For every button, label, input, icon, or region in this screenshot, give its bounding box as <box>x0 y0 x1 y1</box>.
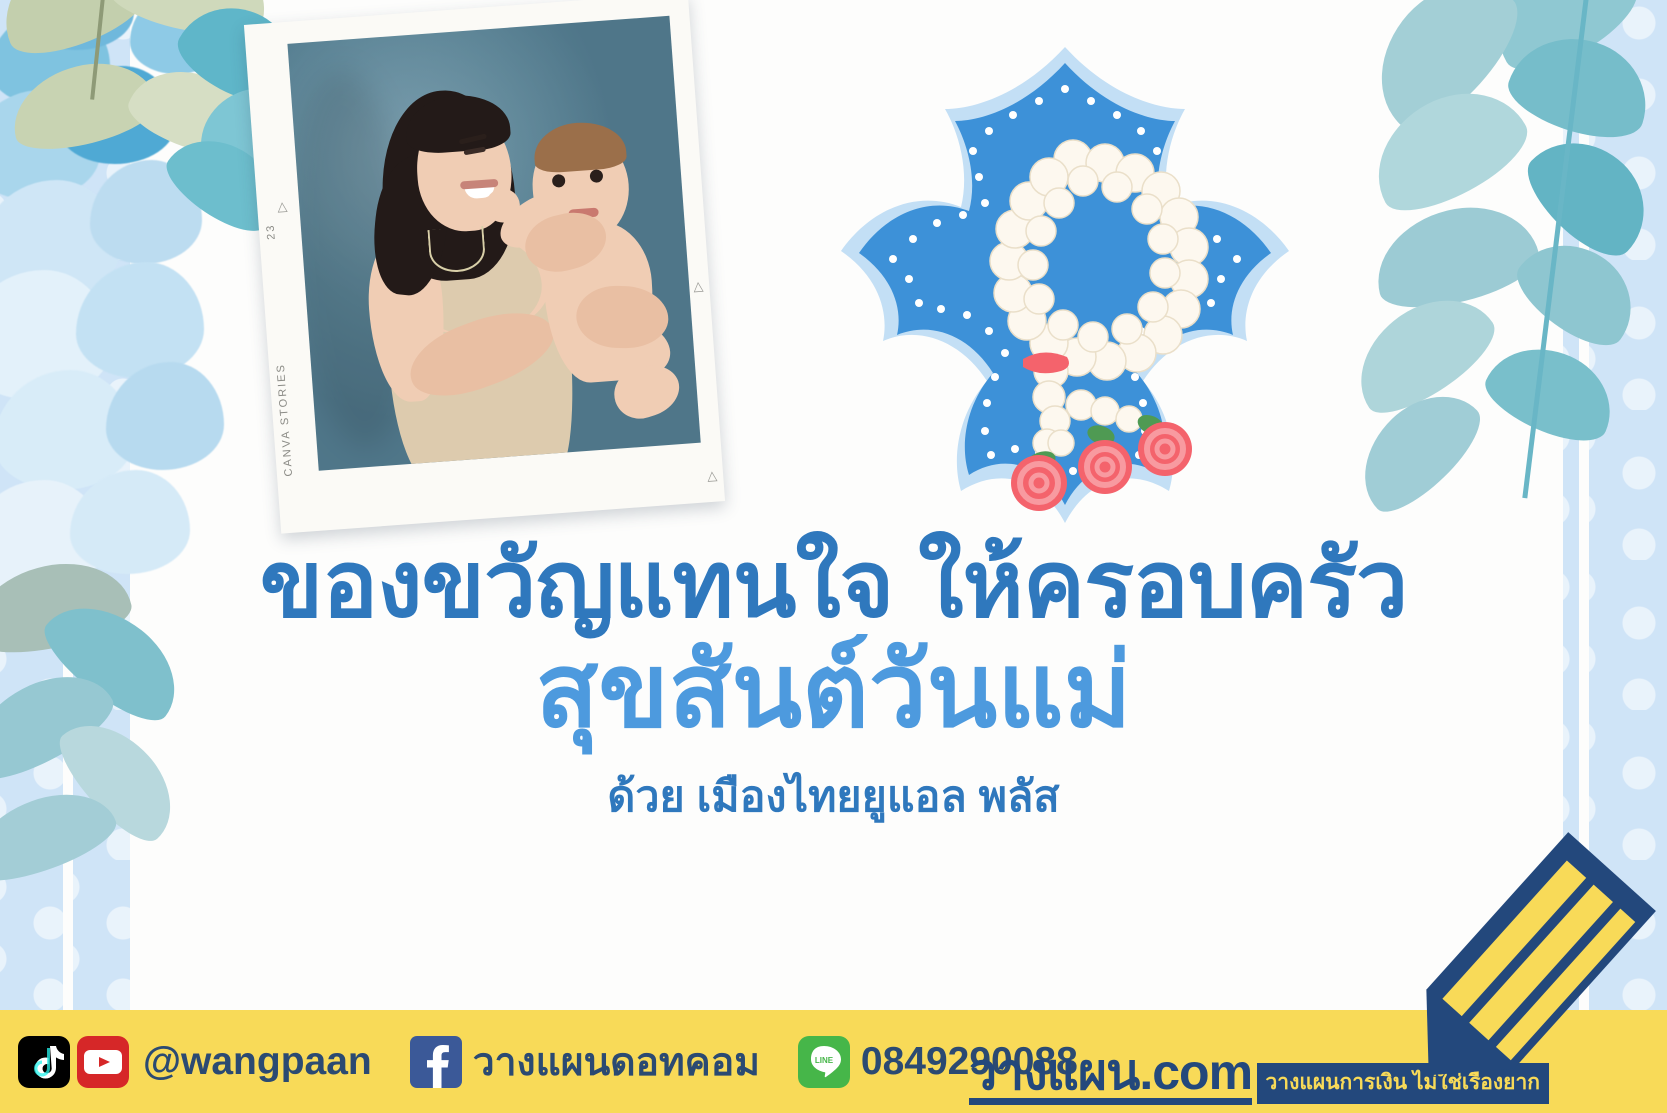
headline-line-2: สุขสันต์วันแม่ <box>0 635 1667 746</box>
poster-canvas: 23 CANVA STORIES △ △ △ <box>0 0 1667 1113</box>
headline-line-1: ของขวัญแทนใจ ให้ครอบครัว <box>0 536 1667 633</box>
brand-name: วางแผน.com <box>969 1047 1252 1105</box>
tiktok-icon[interactable] <box>18 1036 70 1088</box>
frame-number-label: 23 <box>265 223 278 240</box>
triangle-mark-icon: △ <box>693 278 704 295</box>
rose-icon <box>1078 440 1132 494</box>
mother-and-baby-photo <box>287 16 700 471</box>
thai-badge-with-garland <box>840 40 1290 530</box>
facebook-icon[interactable] <box>410 1036 462 1088</box>
frame-brand-label: CANVA STORIES <box>275 363 295 477</box>
footer-contact-bar: @wangpaan วางแผนดอทคอม LINE 0849290088 ว… <box>0 1010 1667 1113</box>
pencil-icon <box>1373 819 1667 1113</box>
youtube-icon[interactable] <box>77 1036 129 1088</box>
facebook-page-name: วางแผนดอทคอม <box>473 1031 760 1093</box>
footer-social-group: @wangpaan วางแผนดอทคอม LINE 0849290088 <box>0 1031 1078 1093</box>
triangle-mark-icon: △ <box>707 468 718 485</box>
line-icon[interactable]: LINE <box>798 1036 850 1088</box>
tiktok-youtube-handle: @wangpaan <box>143 1040 372 1084</box>
rose-icon <box>1138 422 1192 476</box>
line-badge-text: LINE <box>815 1056 834 1065</box>
triangle-mark-icon: △ <box>277 198 288 215</box>
headline-block: ของขวัญแทนใจ ให้ครอบครัว สุขสันต์วันแม่ … <box>0 536 1667 830</box>
rose-icon <box>1011 455 1067 511</box>
quatrefoil-icon <box>840 40 1290 530</box>
polaroid-photo-frame: 23 CANVA STORIES △ △ △ <box>244 0 725 534</box>
